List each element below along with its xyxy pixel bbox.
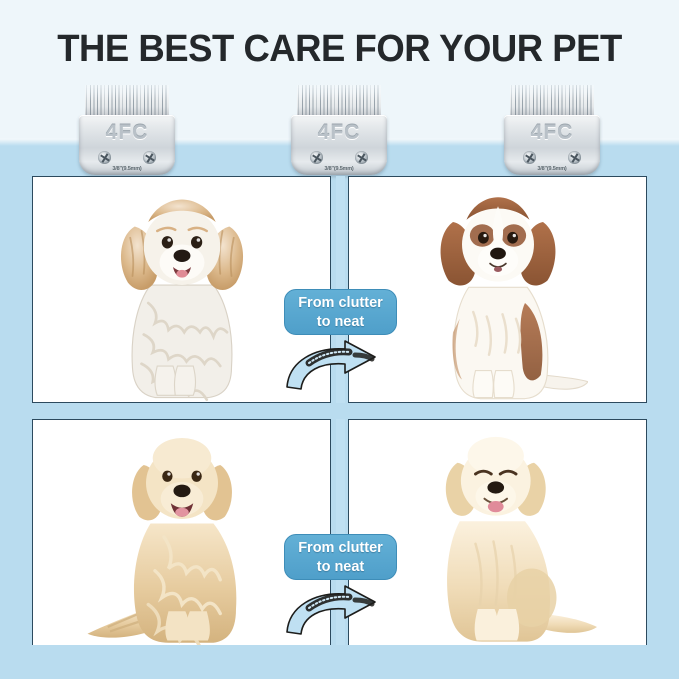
blade-size-label: 3/8"(9.5mm) bbox=[291, 166, 387, 172]
badge-from-clutter-to-neat: From clutter to neat bbox=[284, 534, 397, 580]
clipper-blade-2: 4FC 3/8"(9.5mm) bbox=[291, 85, 387, 175]
blade-screw-right-icon bbox=[355, 151, 368, 164]
blade-size-label: 3/8"(9.5mm) bbox=[504, 166, 600, 172]
badge-line-1: From clutter bbox=[298, 295, 383, 311]
blade-model-label: 4FC bbox=[79, 121, 175, 145]
blade-size-label: 3/8"(9.5mm) bbox=[79, 166, 175, 172]
badge-line-1: From clutter bbox=[298, 540, 383, 556]
blade-screw-right-icon bbox=[143, 151, 156, 164]
promo-poster: THE BEST CARE FOR YOUR PET 4FC 3/8"(9.5m… bbox=[0, 0, 679, 679]
curved-arrow-icon bbox=[271, 337, 410, 393]
blade-body: 4FC 3/8"(9.5mm) bbox=[79, 115, 175, 175]
clipper-blade-1: 4FC 3/8"(9.5mm) bbox=[79, 85, 175, 175]
blade-screw-right-icon bbox=[568, 151, 581, 164]
blade-screw-left-icon bbox=[310, 151, 323, 164]
blade-screw-left-icon bbox=[98, 151, 111, 164]
badge-from-clutter-to-neat: From clutter to neat bbox=[284, 289, 397, 335]
blade-body: 4FC 3/8"(9.5mm) bbox=[504, 115, 600, 175]
page-title: THE BEST CARE FOR YOUR PET bbox=[14, 26, 666, 72]
bottom-background-band bbox=[0, 645, 679, 679]
blade-body: 4FC 3/8"(9.5mm) bbox=[291, 115, 387, 175]
blade-model-label: 4FC bbox=[504, 121, 600, 145]
blade-screw-left-icon bbox=[523, 151, 536, 164]
badge-line-2: to neat bbox=[317, 314, 365, 330]
clipper-blade-3: 4FC 3/8"(9.5mm) bbox=[504, 85, 600, 175]
badge-line-2: to neat bbox=[317, 559, 365, 575]
curved-arrow-icon bbox=[271, 582, 410, 638]
blade-model-label: 4FC bbox=[291, 121, 387, 145]
